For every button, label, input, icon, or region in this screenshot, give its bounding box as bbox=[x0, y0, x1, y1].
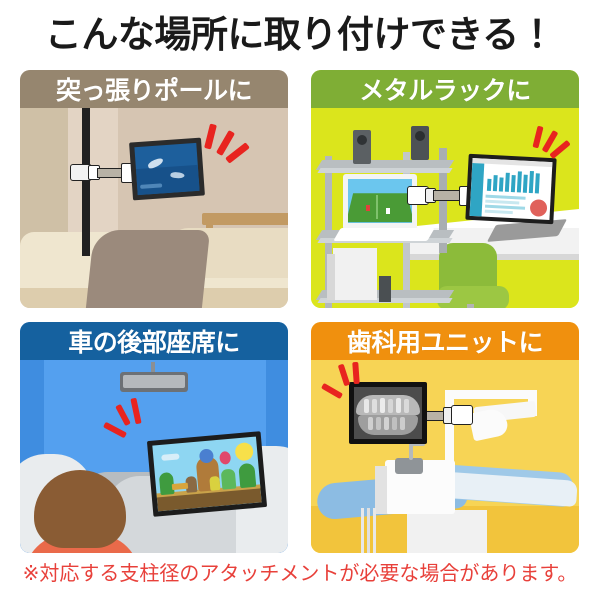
spittoon-bowl bbox=[395, 458, 423, 474]
xray-display bbox=[349, 382, 427, 444]
xray-tooth bbox=[364, 399, 369, 413]
screen-char-green bbox=[221, 469, 237, 490]
pc-tower bbox=[333, 248, 377, 300]
wall-left bbox=[20, 108, 68, 250]
mirror-glass bbox=[123, 375, 185, 388]
tension-pole bbox=[82, 108, 90, 256]
shine-mark-3 bbox=[321, 383, 343, 399]
rearview-mirror bbox=[120, 372, 188, 392]
lamp-arm bbox=[445, 390, 537, 399]
spittoon-side bbox=[375, 466, 387, 514]
chair-base bbox=[407, 510, 487, 553]
laptop-screen bbox=[348, 179, 412, 223]
xray-tooth bbox=[404, 399, 409, 413]
panel-car-rear-seat: 車の後部座席に bbox=[20, 322, 288, 553]
screen-titlebar bbox=[472, 158, 552, 167]
mount-clamp bbox=[451, 405, 473, 425]
xray-tooth-lower bbox=[384, 417, 389, 430]
hose-1 bbox=[361, 508, 364, 553]
car-display bbox=[147, 431, 267, 517]
screen-field bbox=[348, 193, 412, 222]
speaker-cone bbox=[357, 135, 367, 145]
speaker-left bbox=[353, 130, 371, 164]
hose-2 bbox=[367, 508, 370, 553]
screen-chart-bar bbox=[523, 175, 528, 193]
screen-player-a bbox=[366, 205, 370, 211]
screen-table-row bbox=[485, 200, 519, 205]
pc-tower-side bbox=[327, 254, 335, 300]
shine-mark-1 bbox=[338, 364, 351, 387]
shine-mark-1 bbox=[532, 126, 543, 149]
panel-header-dental-unit: 歯科用ユニットに bbox=[311, 322, 579, 360]
scene-dental-unit bbox=[311, 360, 579, 553]
rack-shelf-top-grid bbox=[317, 168, 452, 173]
screen-player-b bbox=[386, 208, 390, 214]
panel-header-metal-rack: メタルラックに bbox=[311, 70, 579, 108]
xray-tooth bbox=[372, 399, 377, 413]
screen-chart-bar bbox=[505, 173, 510, 192]
speaker-right bbox=[411, 126, 429, 160]
panel-label: メタルラックに bbox=[359, 71, 531, 107]
screen-chart-bar bbox=[511, 175, 516, 192]
xray-tooth-lower bbox=[400, 417, 405, 430]
bed-blanket bbox=[86, 230, 210, 308]
screen-sidebar bbox=[470, 163, 485, 217]
screen-chart-bar bbox=[529, 171, 534, 193]
laptop-base bbox=[333, 228, 435, 241]
game-console bbox=[379, 276, 391, 302]
xray-tooth-lower bbox=[368, 417, 373, 430]
tv-screen bbox=[134, 143, 199, 195]
scene-bedroom bbox=[20, 108, 288, 308]
xray-tooth bbox=[380, 398, 385, 413]
screen-char-yellow bbox=[209, 476, 220, 491]
speaker-cone bbox=[415, 131, 425, 141]
shine-mark-2 bbox=[352, 362, 360, 384]
xray-tooth-lower bbox=[376, 417, 381, 430]
screen-chart-bar bbox=[493, 175, 498, 191]
xray-tooth-lower bbox=[392, 417, 397, 430]
chair-post bbox=[467, 304, 474, 308]
panel-dental-unit: 歯科用ユニットに bbox=[311, 322, 579, 553]
panel-label: 突っ張りポールに bbox=[56, 71, 252, 107]
panel-header-tension-pole: 突っ張りポールに bbox=[20, 70, 288, 108]
panel-label: 歯科用ユニットに bbox=[347, 323, 543, 359]
xray-screen bbox=[354, 387, 422, 439]
laptop-display bbox=[343, 174, 417, 230]
tv-display bbox=[129, 138, 205, 201]
monitor-display bbox=[465, 154, 556, 225]
screen-balloon bbox=[219, 451, 231, 465]
screen-chart-bar bbox=[487, 179, 492, 191]
screen-tree-right bbox=[238, 463, 256, 488]
screen-chart-bar bbox=[499, 177, 504, 191]
page-title: こんな場所に取り付けできる！ bbox=[0, 8, 600, 62]
scene-car-interior bbox=[20, 360, 288, 553]
screen-pie bbox=[530, 199, 548, 217]
screen-water-dark bbox=[136, 165, 200, 195]
hose-3 bbox=[373, 508, 376, 553]
screen-chart-bar bbox=[517, 171, 522, 192]
monitor-screen bbox=[470, 158, 553, 220]
footnote: ※対応する支柱径のアタッチメントが必要な場合があります。 bbox=[0, 559, 600, 589]
scene-metal-rack bbox=[311, 108, 579, 308]
panel-metal-rack: メタルラックに bbox=[311, 70, 579, 308]
table-top bbox=[202, 213, 288, 225]
car-display-screen bbox=[152, 437, 261, 512]
xray-tooth bbox=[396, 398, 401, 413]
screen-chart-bar bbox=[535, 173, 540, 193]
screen-table-row bbox=[485, 210, 513, 214]
panel-label: 車の後部座席に bbox=[68, 323, 240, 359]
screen-sun bbox=[234, 442, 254, 462]
infographic-page: こんな場所に取り付けできる！ bbox=[0, 0, 600, 600]
screen-field-line bbox=[376, 195, 378, 219]
screen-cloud bbox=[161, 453, 179, 461]
panel-header-car-rear-seat: 車の後部座席に bbox=[20, 322, 288, 360]
panel-tension-pole: 突っ張りポールに bbox=[20, 70, 288, 308]
xray-tooth bbox=[388, 399, 393, 413]
